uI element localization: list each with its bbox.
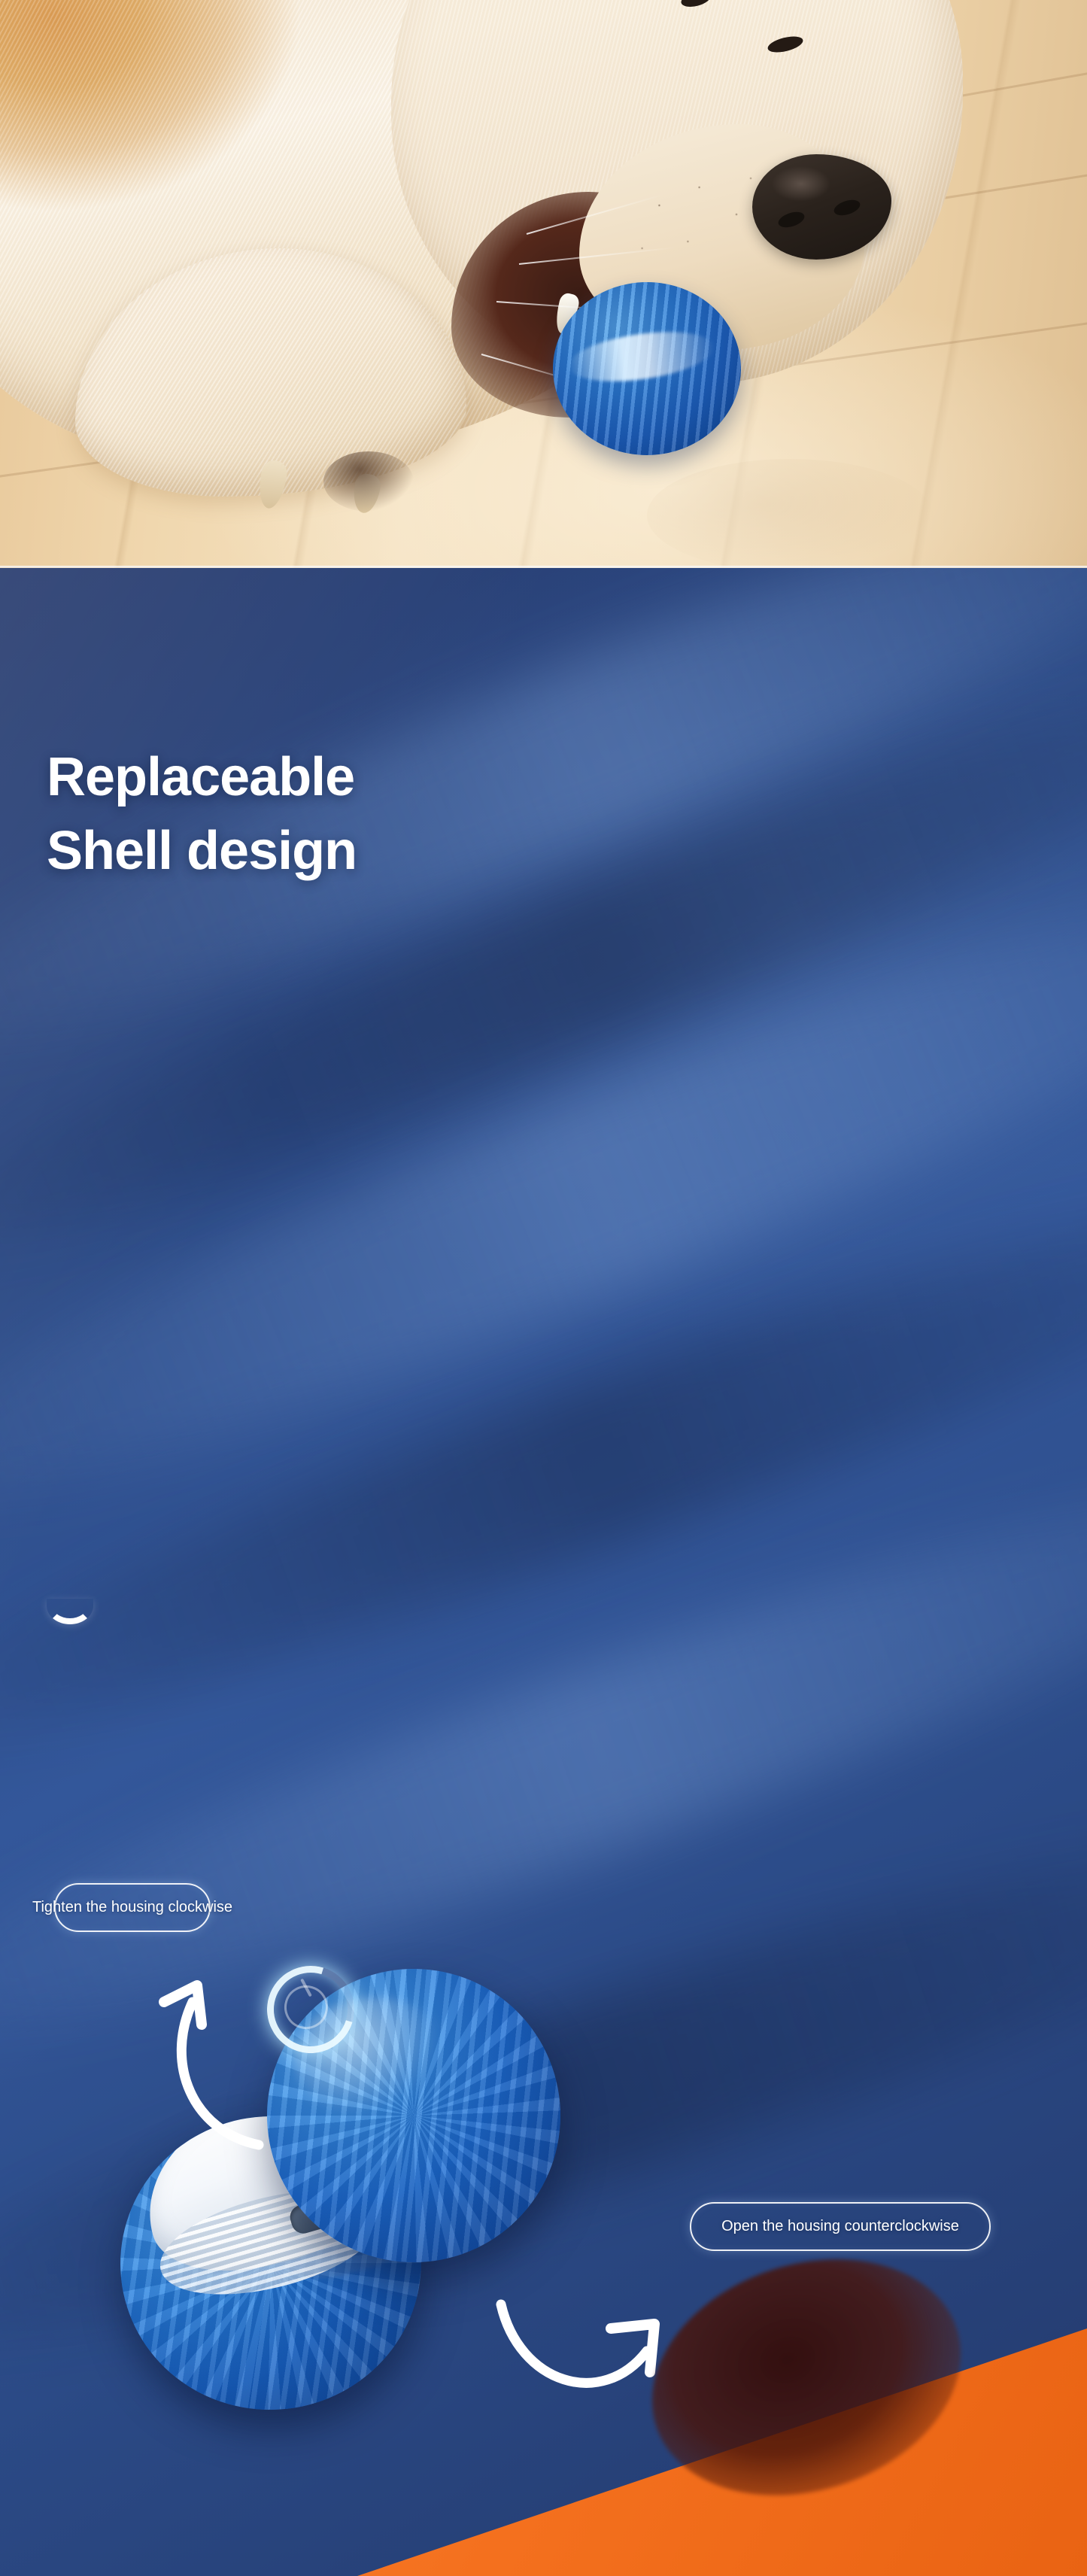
rotate-arrow-top-left-icon bbox=[147, 1943, 328, 2169]
product-detail-page: Replaceable Shell design bbox=[0, 0, 1087, 2576]
headline-line-1: Replaceable bbox=[47, 749, 357, 806]
hero-photo-dog-with-ball bbox=[0, 0, 1087, 568]
callout-tighten-label: Tighten the housing clockwise bbox=[32, 1899, 232, 1916]
paw-toe-shadow bbox=[323, 451, 414, 512]
callout-open-housing[interactable]: Open the housing counterclockwise bbox=[690, 2202, 991, 2251]
nostril bbox=[776, 209, 806, 230]
blue-ball-exploded-assembly bbox=[120, 1930, 670, 2509]
nostril bbox=[832, 197, 862, 218]
replaceable-shell-section: Replaceable Shell design bbox=[0, 568, 1087, 2576]
callout-open-label: Open the housing counterclockwise bbox=[721, 2218, 959, 2235]
rotate-arrow-bottom-right-icon bbox=[489, 2289, 677, 2447]
page-title: Replaceable Shell design bbox=[47, 749, 357, 880]
callout-tighten-housing[interactable]: Tighten the housing clockwise bbox=[54, 1883, 211, 1932]
blue-toy-ball-in-photo bbox=[553, 282, 741, 455]
headline-line-2: Shell design bbox=[47, 822, 357, 879]
